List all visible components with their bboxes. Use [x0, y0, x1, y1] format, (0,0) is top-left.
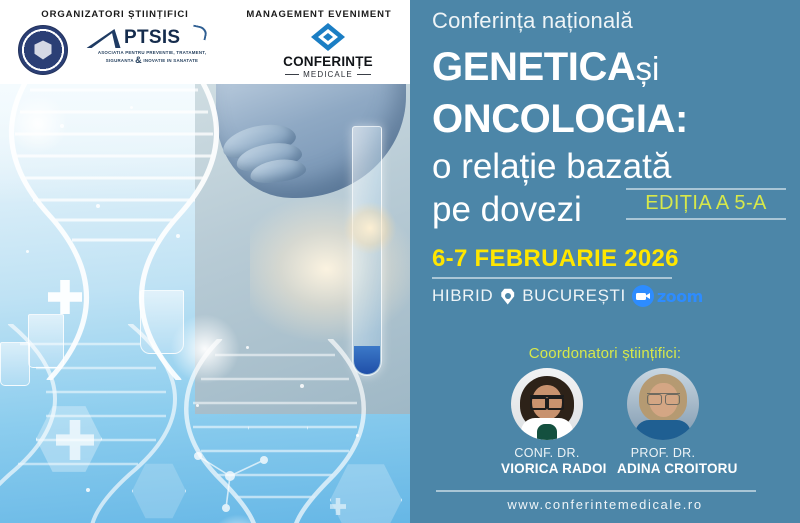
management-heading: MANAGEMENT EVENIMENT	[228, 9, 410, 20]
university-seal-icon	[18, 25, 68, 75]
subtitle-line-1: o relație bazată	[432, 147, 671, 187]
subtitle-line-2: pe dovezi	[432, 190, 582, 230]
ptsis-wordmark: PTSIS	[124, 27, 180, 49]
video-camera-icon	[632, 285, 654, 307]
title-oncologia: ONCOLOGIA:	[432, 97, 688, 141]
edition-label: EDIȚIA A 5-A	[626, 190, 786, 218]
title-conjunction: și	[635, 50, 659, 87]
particle-dot	[300, 384, 304, 388]
ptsis-logo: PTSIS ASOCIATIA PENTRU PREVENTIE, TRATAM…	[88, 27, 216, 64]
left-visual-panel: ORGANIZATORI ȘTIINȚIFICI PTSIS ASOCIATIA…	[0, 0, 410, 523]
avatar-top	[635, 420, 691, 440]
avatar	[627, 368, 699, 440]
light-spark	[8, 94, 68, 154]
venue-row: HIBRID BUCUREȘTI zoom	[432, 285, 703, 307]
ptsis-tagline-line2b: INOVATIE IN SANATATE	[143, 58, 198, 63]
particle-dot	[26, 250, 29, 253]
zoom-platform-badge[interactable]: zoom	[632, 285, 703, 307]
coordinator-card: CONF. DR. VIORICA RADOI	[501, 368, 593, 476]
eyeglasses-icon	[530, 395, 564, 404]
event-format-label: HIBRID	[432, 286, 493, 306]
organizer-logos-row: PTSIS ASOCIATIA PENTRU PREVENTIE, TRATAM…	[0, 23, 230, 81]
light-spark	[170, 314, 240, 384]
right-content-panel: Conferința națională GENETICAși ONCOLOGI…	[410, 0, 800, 523]
zoom-wordmark: zoom	[657, 287, 703, 306]
edition-rule-bottom	[626, 218, 786, 220]
management-logo-row: CONFERINȚE MEDICALE	[228, 23, 410, 81]
particle-dot	[196, 404, 199, 407]
location-pin-icon	[499, 288, 516, 305]
laboratory-imagery	[0, 84, 410, 523]
organizers-header-bar: ORGANIZATORI ȘTIINȚIFICI PTSIS ASOCIATIA…	[0, 0, 410, 84]
event-city-label: BUCUREȘTI	[522, 286, 626, 306]
particle-dot	[60, 124, 64, 128]
coordinator-name: ADINA CROITORU	[617, 461, 709, 476]
footer-divider-rule	[436, 490, 756, 492]
seal-rim-decoration	[22, 29, 64, 71]
medicale-wordmark: MEDICALE	[280, 70, 376, 79]
scientific-organizers-column: ORGANIZATORI ȘTIINȚIFICI PTSIS ASOCIATIA…	[0, 9, 230, 81]
coordinator-name: VIORICA RADOI	[501, 461, 593, 476]
particle-dot	[130, 106, 133, 109]
website-url[interactable]: www.conferintemedicale.ro	[410, 497, 800, 512]
avatar-collar	[537, 424, 557, 440]
particle-dot	[96, 204, 100, 208]
event-management-column: MANAGEMENT EVENIMENT CONFERINȚE MEDICALE	[228, 9, 410, 81]
title-genetica: GENETICA	[432, 45, 635, 89]
conference-poster: ORGANIZATORI ȘTIINȚIFICI PTSIS ASOCIATIA…	[0, 0, 800, 523]
coordinator-role: PROF. DR.	[617, 446, 709, 460]
organizers-heading: ORGANIZATORI ȘTIINȚIFICI	[0, 9, 230, 20]
event-date: 6-7 FEBRUARIE 2026	[432, 245, 679, 273]
coordinator-card: PROF. DR. ADINA CROITORU	[617, 368, 709, 476]
conferinte-medicale-logo: CONFERINȚE MEDICALE	[280, 23, 376, 79]
conference-kicker: Conferința națională	[432, 8, 633, 34]
particle-dot	[176, 234, 180, 238]
ptsis-tagline-line1: ASOCIATIA PENTRU PREVENTIE, TRATAMENT,	[98, 50, 206, 55]
avatar	[511, 368, 583, 440]
particle-dot	[246, 346, 249, 349]
ptsis-tagline-ampersand: &	[135, 55, 142, 65]
ptsis-swoosh-icon	[191, 25, 208, 41]
coordinators-heading: Coordonatori științifici:	[410, 345, 800, 362]
ptsis-tagline: ASOCIATIA PENTRU PREVENTIE, TRATAMENT, S…	[88, 50, 216, 64]
title-line-2: ONCOLOGIA:	[432, 97, 688, 142]
test-tube-light-flare	[344, 202, 396, 254]
eyeglasses-icon	[647, 393, 680, 402]
diamond-icon	[311, 23, 345, 51]
edition-badge: EDIȚIA A 5-A	[626, 188, 786, 220]
particle-dot	[356, 434, 359, 437]
conferinte-wordmark: CONFERINȚE	[280, 54, 376, 69]
ptsis-tagline-line2a: SIGURANTA	[106, 58, 134, 63]
coordinators-list: CONF. DR. VIORICA RADOI PROF. DR. ADINA …	[410, 368, 800, 476]
particle-dot	[86, 488, 90, 492]
title-line-1: GENETICAși	[432, 45, 659, 90]
coordinator-role: CONF. DR.	[501, 446, 593, 460]
ptsis-logo-mark: PTSIS	[88, 27, 216, 49]
date-divider-rule	[432, 277, 672, 279]
